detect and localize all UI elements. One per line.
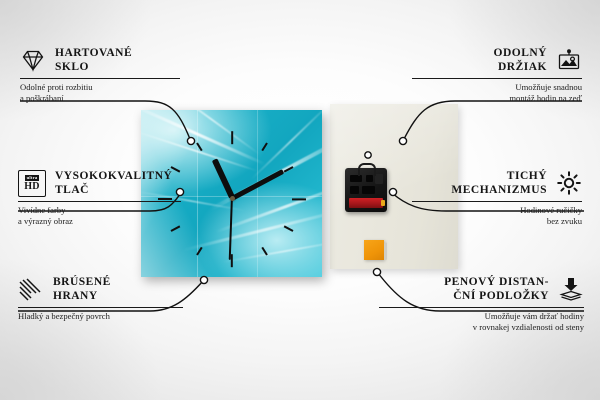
feature-divider bbox=[20, 78, 180, 79]
feature-silent-mechanism: TICHÝ MECHANIZMUS Hodinové ručičky bez z… bbox=[404, 170, 582, 227]
connector-dot-4 bbox=[399, 137, 406, 144]
feature-divider bbox=[412, 78, 582, 79]
feature-title-line1: HARTOVANÉ bbox=[55, 47, 132, 61]
feature-title-line1: PENOVÝ DISTAN- bbox=[444, 276, 549, 290]
feature-divider bbox=[18, 307, 183, 308]
feature-title-line2: TLAČ bbox=[55, 184, 172, 198]
feature-durable-hanger: ODOLNÝ DRŽIAK Umožňuje snadnou montáž ho… bbox=[404, 47, 582, 104]
feature-divider bbox=[18, 201, 181, 202]
feature-sub-line1: Umožňuje snadnou bbox=[404, 82, 582, 93]
feature-title-line2: MECHANIZMUS bbox=[451, 184, 547, 198]
feature-title-line2: ČNÍ PODLOŽKY bbox=[444, 290, 549, 304]
feature-sub-line2: a poškrábaní bbox=[20, 93, 190, 104]
connector-dot-5 bbox=[389, 188, 396, 195]
feature-divider bbox=[412, 201, 582, 202]
connector-dot-3 bbox=[200, 276, 207, 283]
feature-title-line1: BRÚSENÉ bbox=[53, 276, 111, 290]
feature-sub-line1: Umožňuje vám držať hodiny bbox=[369, 311, 584, 322]
connector-dot-mechanism bbox=[365, 152, 371, 158]
feature-title-line2: HRANY bbox=[53, 290, 111, 304]
feature-foam-spacers: PENOVÝ DISTAN- ČNÍ PODLOŽKY Umožňuje vám… bbox=[369, 276, 584, 333]
gear-icon bbox=[556, 170, 582, 196]
spacer-stack-icon bbox=[558, 276, 584, 302]
feature-tempered-glass: HARTOVANÉ SKLO Odolné proti rozbitiu a p… bbox=[20, 47, 190, 104]
feature-sub-line1: Hodinové ručičky bbox=[404, 205, 582, 216]
feature-sub-line2: v rovnakej vzdialenosti od steny bbox=[369, 322, 584, 333]
ultra-hd-icon: ultra HD bbox=[18, 170, 46, 197]
connector-dot-1 bbox=[187, 137, 194, 144]
ultra-hd-icon-top-text: ultra bbox=[25, 175, 40, 181]
beveled-edges-icon bbox=[18, 276, 44, 302]
feature-title-line1: VYSOKOKVALITNÝ bbox=[55, 170, 172, 184]
feature-sub-line1: Vivídne farby bbox=[18, 205, 193, 216]
feature-title-line1: TICHÝ bbox=[451, 170, 547, 184]
wall-hanger-icon bbox=[556, 47, 582, 73]
diamond-icon bbox=[20, 47, 46, 73]
feature-title-line1: ODOLNÝ bbox=[494, 47, 547, 61]
feature-sub-line2: montáž hodin na zeď bbox=[404, 93, 582, 104]
feature-sub-line2: a výrazný obraz bbox=[18, 216, 193, 227]
connector-line-4 bbox=[404, 101, 582, 139]
ultra-hd-icon-main-text: HD bbox=[24, 182, 40, 192]
feature-hd-print: ultra HD VYSOKOKVALITNÝ TLAČ Vivídne far… bbox=[18, 170, 193, 227]
connector-dot-6 bbox=[373, 268, 380, 275]
feature-sub-line1: Hladký a bezpečný povrch bbox=[18, 311, 198, 322]
infographic-canvas: HARTOVANÉ SKLO Odolné proti rozbitiu a p… bbox=[0, 0, 600, 400]
feature-sub-line1: Odolné proti rozbitiu bbox=[20, 82, 190, 93]
feature-sub-line2: bez zvuku bbox=[404, 216, 582, 227]
connector-line-1 bbox=[20, 101, 190, 139]
feature-title-line2: SKLO bbox=[55, 61, 132, 75]
feature-beveled-edges: BRÚSENÉ HRANY Hladký a bezpečný povrch bbox=[18, 276, 198, 322]
feature-divider bbox=[379, 307, 584, 308]
feature-title-line2: DRŽIAK bbox=[494, 61, 547, 75]
